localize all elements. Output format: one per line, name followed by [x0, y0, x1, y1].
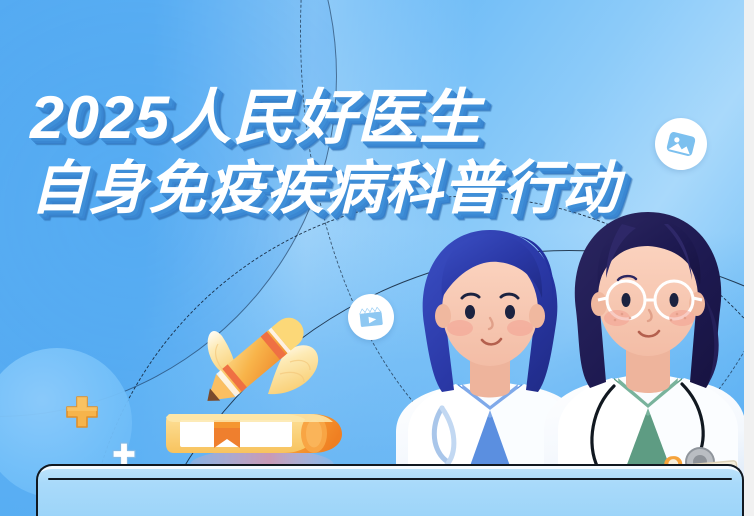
poster-canvas: 2025人民好医生 自身免疫疾病科普行动 [0, 0, 754, 516]
doctors-illustration [386, 194, 746, 494]
video-icon[interactable] [348, 294, 394, 340]
plus-icon-orange [62, 392, 102, 437]
page-gutter [744, 0, 754, 516]
doctor-right [544, 212, 746, 494]
desk-panel [36, 464, 744, 516]
